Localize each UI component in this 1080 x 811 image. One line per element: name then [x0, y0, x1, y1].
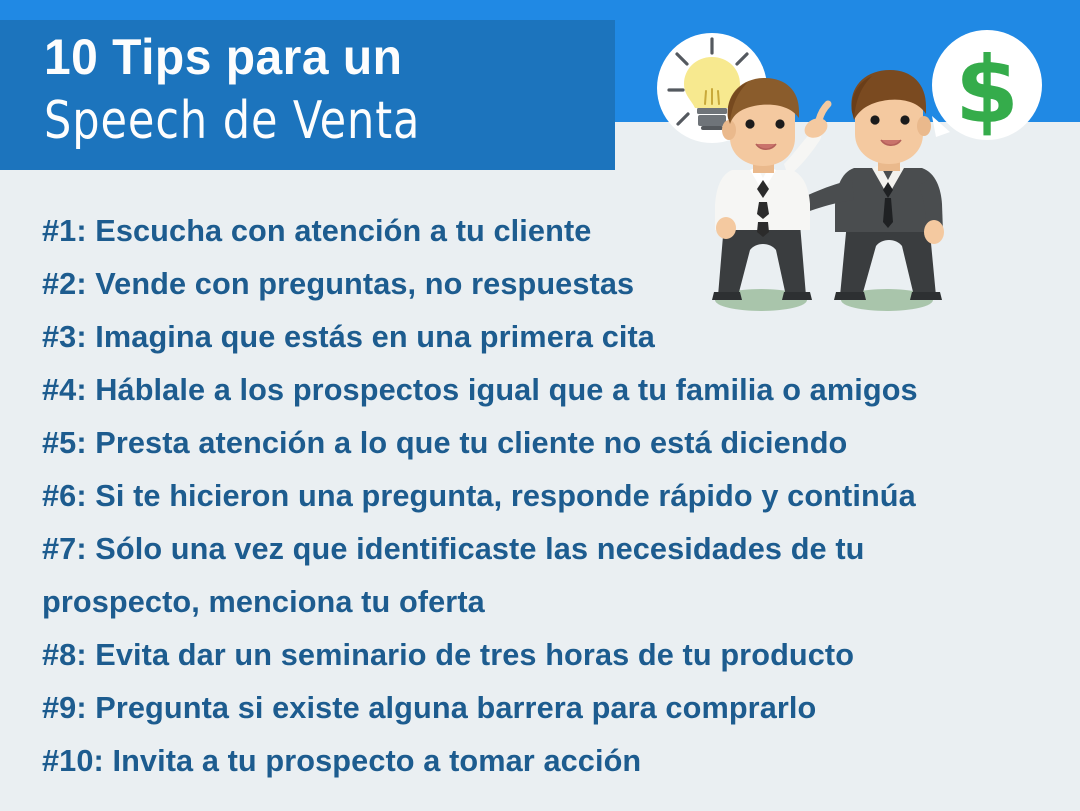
tips-list: #1: Escucha con atención a tu cliente #2…	[42, 204, 1042, 787]
tip-item: #10: Invita a tu prospecto a tomar acció…	[42, 734, 1032, 787]
title-plaque: 10 Tips para un Speech de Venta	[0, 20, 615, 170]
slide-canvas: $	[0, 0, 1080, 811]
title-line-2: Speech de Venta	[44, 88, 569, 154]
tip-item: #9: Pregunta si existe alguna barrera pa…	[42, 681, 1032, 734]
tip-item: #6: Si te hicieron una pregunta, respond…	[42, 469, 1032, 522]
tip-item: #7: Sólo una vez que identificaste las n…	[42, 522, 1032, 575]
tip-item: #2: Vende con preguntas, no respuestas	[42, 257, 1032, 310]
tip-item: #5: Presta atención a lo que tu cliente …	[42, 416, 1032, 469]
tip-item-continuation: prospecto, menciona tu oferta	[42, 575, 1032, 628]
tip-item: #1: Escucha con atención a tu cliente	[42, 204, 1032, 257]
title-line-1: 10 Tips para un	[44, 26, 592, 88]
tip-item: #3: Imagina que estás en una primera cit…	[42, 310, 1032, 363]
tip-item: #4: Háblale a los prospectos igual que a…	[42, 363, 1032, 416]
tip-item: #8: Evita dar un seminario de tres horas…	[42, 628, 1032, 681]
